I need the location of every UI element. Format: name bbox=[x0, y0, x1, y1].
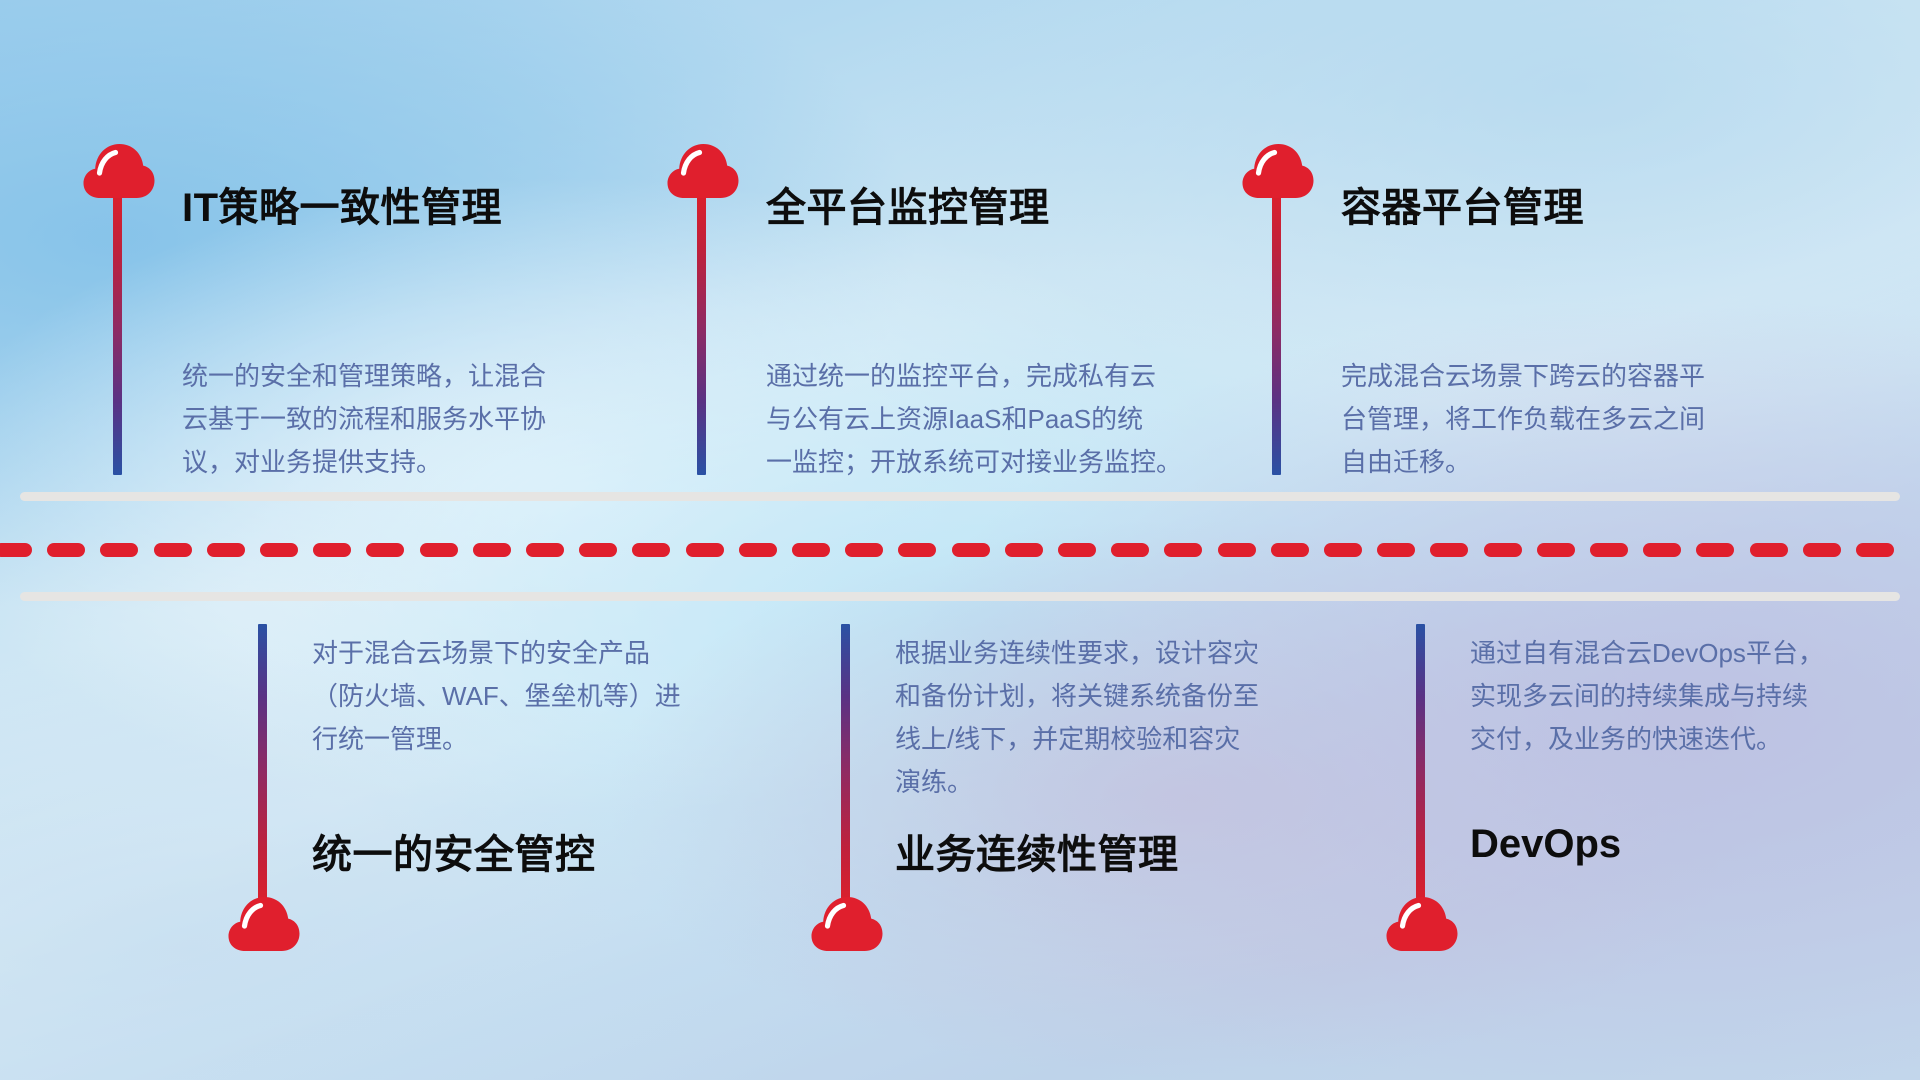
dash-segment bbox=[1750, 543, 1788, 557]
stem-line bbox=[258, 624, 267, 906]
cloud-icon bbox=[810, 893, 884, 953]
stem-line bbox=[1416, 624, 1425, 906]
item-body: 统一的安全和管理策略，让混合 云基于一致的流程和服务水平协 议，对业务提供支持。 bbox=[182, 355, 612, 484]
dash-segment bbox=[686, 543, 724, 557]
dash-segment bbox=[473, 543, 511, 557]
dash-segment bbox=[366, 543, 404, 557]
cloud-icon bbox=[227, 893, 301, 953]
divider-solid-rule-bottom bbox=[20, 592, 1900, 601]
item-title: IT策略一致性管理 bbox=[182, 175, 502, 233]
dash-segment bbox=[260, 543, 298, 557]
dash-segment bbox=[1537, 543, 1575, 557]
dash-segment bbox=[47, 543, 85, 557]
dash-segment bbox=[792, 543, 830, 557]
item-title: 统一的安全管控 bbox=[312, 822, 596, 880]
infographic-canvas: IT策略一致性管理 统一的安全和管理策略，让混合 云基于一致的流程和服务水平协 … bbox=[0, 0, 1920, 1080]
cloud-icon bbox=[1241, 140, 1315, 200]
stem-line bbox=[1272, 192, 1281, 475]
dash-segment bbox=[898, 543, 936, 557]
item-body: 对于混合云场景下的安全产品 （防火墙、WAF、堡垒机等）进 行统一管理。 bbox=[312, 632, 742, 761]
divider-dashed-rule bbox=[0, 543, 1920, 557]
dash-segment bbox=[1430, 543, 1468, 557]
dash-segment bbox=[1643, 543, 1681, 557]
dash-segment bbox=[313, 543, 351, 557]
dash-segment bbox=[1164, 543, 1202, 557]
item-title: 全平台监控管理 bbox=[766, 175, 1050, 233]
cloud-icon bbox=[666, 140, 740, 200]
item-body: 根据业务连续性要求，设计容灾 和备份计划，将关键系统备份至 线上/线下，并定期校… bbox=[895, 632, 1335, 804]
dash-segment bbox=[1377, 543, 1415, 557]
dash-segment bbox=[1484, 543, 1522, 557]
dash-segment bbox=[1271, 543, 1309, 557]
dash-segment bbox=[420, 543, 458, 557]
item-body: 完成混合云场景下跨云的容器平 台管理，将工作负载在多云之间 自由迁移。 bbox=[1341, 355, 1781, 484]
dash-segment bbox=[952, 543, 990, 557]
dash-segment bbox=[1324, 543, 1362, 557]
dash-segment bbox=[1218, 543, 1256, 557]
item-title: 容器平台管理 bbox=[1341, 175, 1584, 233]
dash-segment bbox=[100, 543, 138, 557]
item-body: 通过统一的监控平台，完成私有云 与公有云上资源IaaS和PaaS的统 一监控；开… bbox=[766, 355, 1216, 484]
dash-segment bbox=[1005, 543, 1043, 557]
stem-line bbox=[697, 192, 706, 475]
stem-line bbox=[113, 192, 122, 475]
cloud-icon bbox=[1385, 893, 1459, 953]
dash-segment bbox=[0, 543, 32, 557]
dash-segment bbox=[1803, 543, 1841, 557]
item-title: 业务连续性管理 bbox=[895, 822, 1179, 880]
dash-segment bbox=[154, 543, 192, 557]
dash-segment bbox=[1696, 543, 1734, 557]
dash-segment bbox=[1058, 543, 1096, 557]
dash-segment bbox=[1111, 543, 1149, 557]
divider-solid-rule-top bbox=[20, 492, 1900, 501]
dash-segment bbox=[207, 543, 245, 557]
dash-segment bbox=[1590, 543, 1628, 557]
dash-segment bbox=[1856, 543, 1894, 557]
dash-segment bbox=[845, 543, 883, 557]
dash-segment bbox=[739, 543, 777, 557]
stem-line bbox=[841, 624, 850, 906]
dash-segment bbox=[632, 543, 670, 557]
dash-segment bbox=[579, 543, 617, 557]
item-title: DevOps bbox=[1470, 822, 1621, 867]
cloud-icon bbox=[82, 140, 156, 200]
item-body: 通过自有混合云DevOps平台， 实现多云间的持续集成与持续 交付，及业务的快速… bbox=[1470, 632, 1910, 761]
dash-segment bbox=[526, 543, 564, 557]
